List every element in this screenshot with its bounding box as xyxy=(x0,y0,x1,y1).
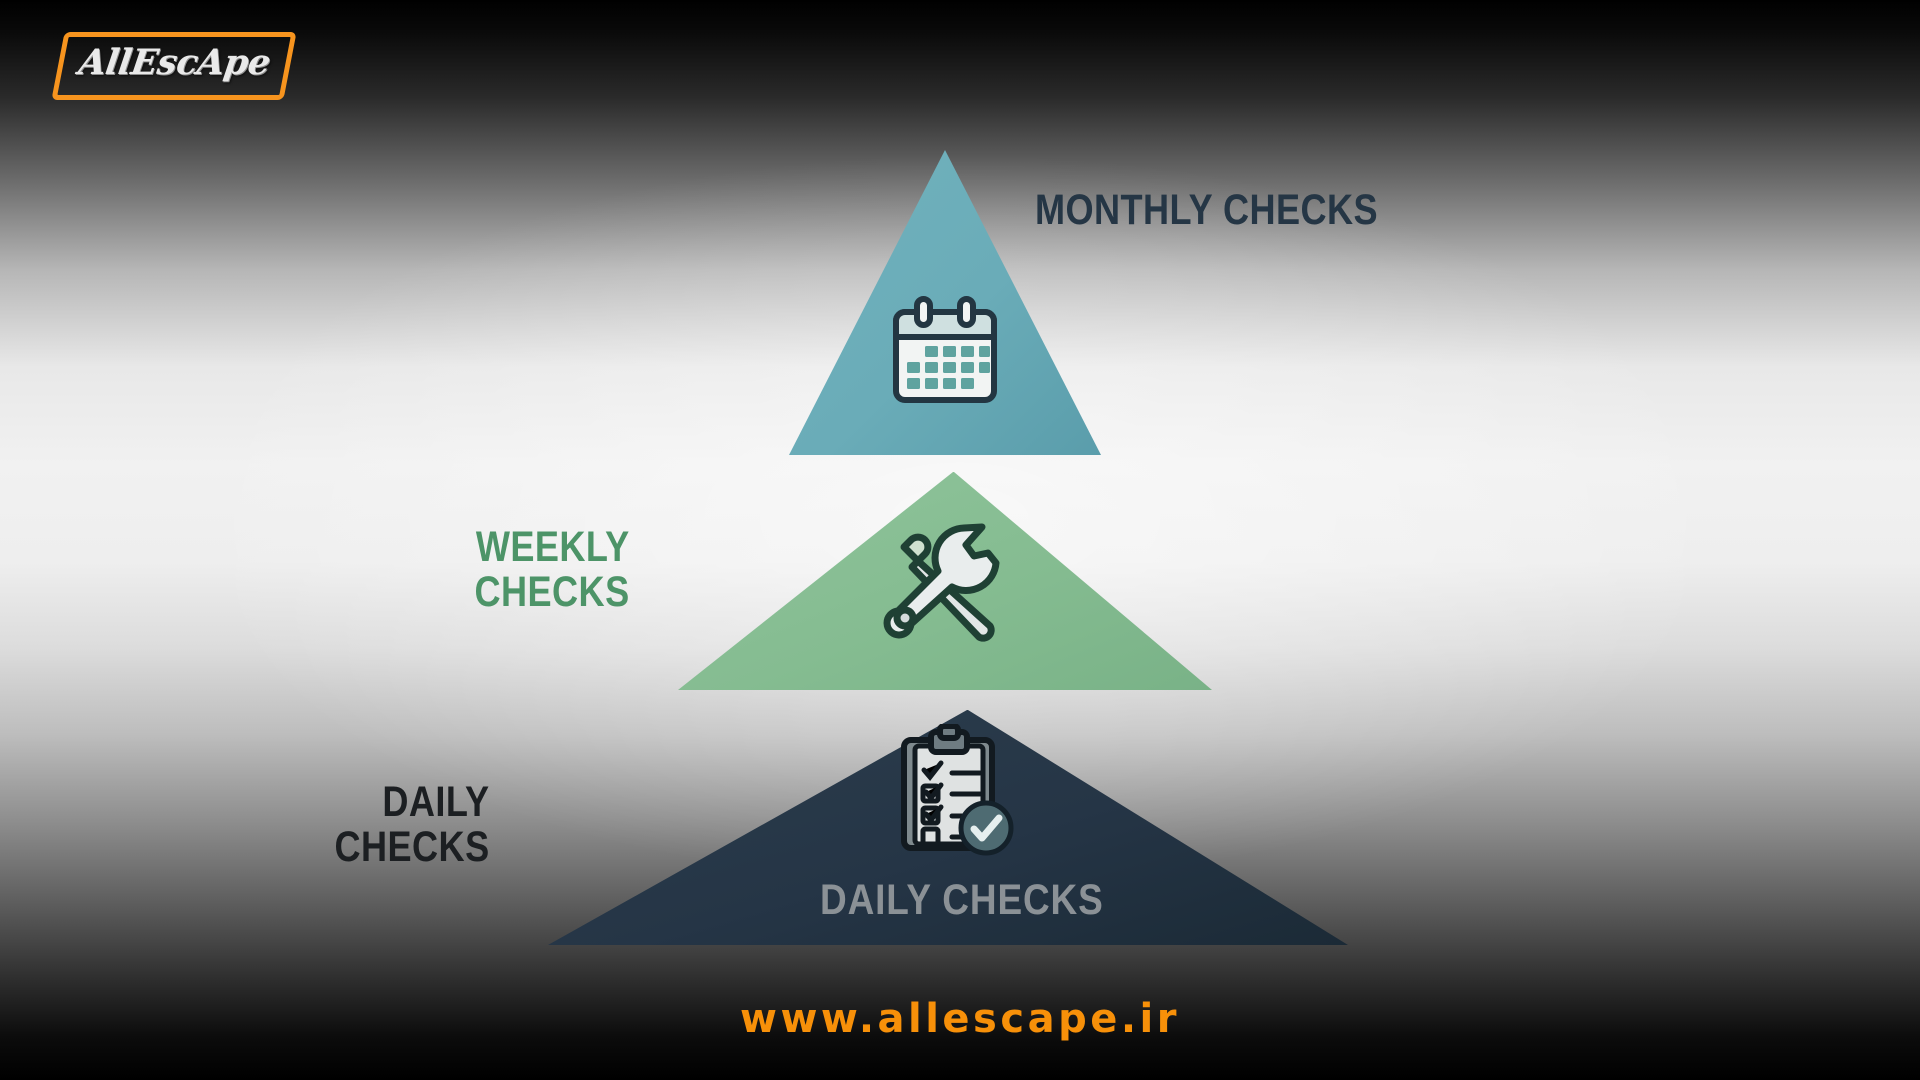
tier-label-monthly: MONTHLY CHECKS xyxy=(1035,188,1378,233)
logo-wordmark: AllEscApe xyxy=(53,32,295,100)
tier-label-daily: DAILY CHECKS xyxy=(335,780,490,869)
poster-canvas: AllEscApe MONTH xyxy=(0,0,1920,1080)
tools-icon xyxy=(878,514,1012,648)
tier-label-weekly: WEEKLY CHECKS xyxy=(475,525,630,614)
site-url[interactable]: www.allescape.ir xyxy=(0,996,1920,1042)
clipboard-check-icon xyxy=(888,724,1014,856)
calendar-icon xyxy=(888,296,1002,408)
brand-logo[interactable]: AllEscApe xyxy=(58,32,290,100)
tier-inband-label-daily: DAILY CHECKS xyxy=(820,876,1104,925)
